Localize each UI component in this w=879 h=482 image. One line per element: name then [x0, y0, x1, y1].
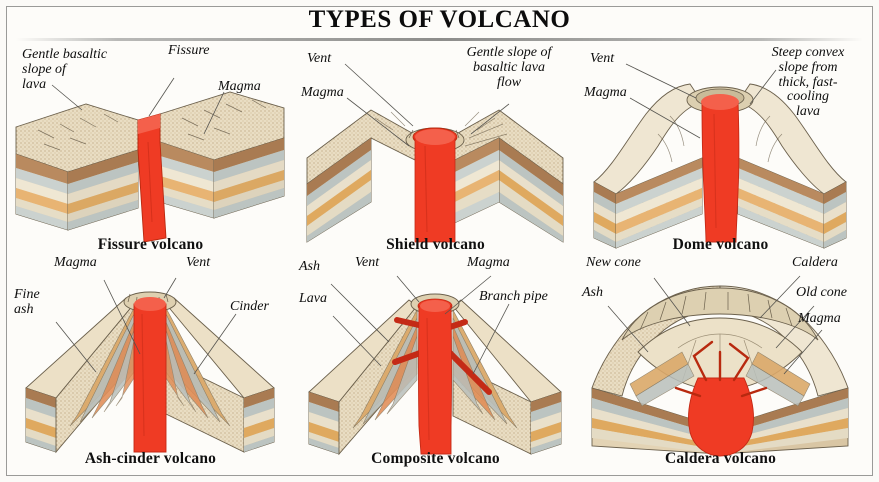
label-magma: Magma: [54, 256, 97, 271]
caption-shield-volcano: Shield volcano: [293, 236, 578, 254]
diagram-composite-volcano: Ash Vent Magma Lava Branch pipe Composit…: [293, 256, 578, 470]
magma-chamber: [688, 378, 753, 456]
label-gentle-slope-of-basaltic-lava-flow: Gentle slope of basaltic lava flow: [443, 46, 575, 90]
label-cinder: Cinder: [230, 300, 269, 315]
illustration-page: TYPES OF VOLCANO: [0, 0, 879, 482]
diagram-fissure-volcano: Gentle basaltic slope of lava Fissure Ma…: [8, 42, 293, 256]
label-steep-convex-slope-from-thick-fast-cooling-lava: Steep convex slope from thick, fast- coo…: [756, 46, 860, 120]
magma-pipe: [415, 129, 455, 242]
label-branch-pipe: Branch pipe: [479, 290, 548, 305]
diagram-grid: Gentle basaltic slope of lava Fissure Ma…: [8, 42, 863, 470]
title-divider: [16, 38, 863, 41]
label-vent: Vent: [355, 256, 379, 271]
label-fissure: Fissure: [168, 44, 209, 59]
magma-pipe: [419, 300, 452, 454]
caption-caldera-volcano: Caldera volcano: [578, 450, 863, 468]
magma-pipe: [134, 297, 166, 452]
caption-dome-volcano: Dome volcano: [578, 236, 863, 254]
label-old-cone: Old cone: [796, 286, 847, 301]
page-title: TYPES OF VOLCANO: [0, 6, 879, 34]
label-caldera: Caldera: [792, 256, 838, 271]
caption-ash-cinder-volcano: Ash-cinder volcano: [8, 450, 293, 468]
label-gentle-basaltic-slope-of-lava: Gentle basaltic slope of lava: [22, 48, 107, 92]
label-magma: Magma: [584, 86, 627, 101]
label-ash: Ash: [582, 286, 603, 301]
label-fine-ash: Fine ash: [14, 288, 40, 318]
label-lava: Lava: [299, 292, 327, 307]
ash-cinder-volcano-figure: [8, 256, 293, 470]
label-ash: Ash: [299, 260, 320, 275]
label-vent: Vent: [307, 52, 331, 67]
label-magma: Magma: [218, 80, 261, 95]
label-magma: Magma: [798, 312, 841, 327]
label-magma: Magma: [301, 86, 344, 101]
right-crust-block: [160, 92, 284, 218]
diagram-shield-volcano: Vent Magma Gentle slope of basaltic lava…: [293, 42, 578, 256]
caption-composite-volcano: Composite volcano: [293, 450, 578, 468]
caption-fissure-volcano: Fissure volcano: [8, 236, 293, 254]
label-new-cone: New cone: [586, 256, 641, 271]
label-vent: Vent: [186, 256, 210, 271]
left-crust-block: [16, 104, 138, 230]
diagram-ash-cinder-volcano: Magma Vent Fine ash Cinder Ash-cinder vo…: [8, 256, 293, 470]
label-magma: Magma: [467, 256, 510, 271]
diagram-dome-volcano: Vent Magma Steep convex slope from thick…: [578, 42, 863, 256]
diagram-caldera-volcano: New cone Caldera Ash Old cone Magma Cald…: [578, 256, 863, 470]
label-vent: Vent: [590, 52, 614, 67]
